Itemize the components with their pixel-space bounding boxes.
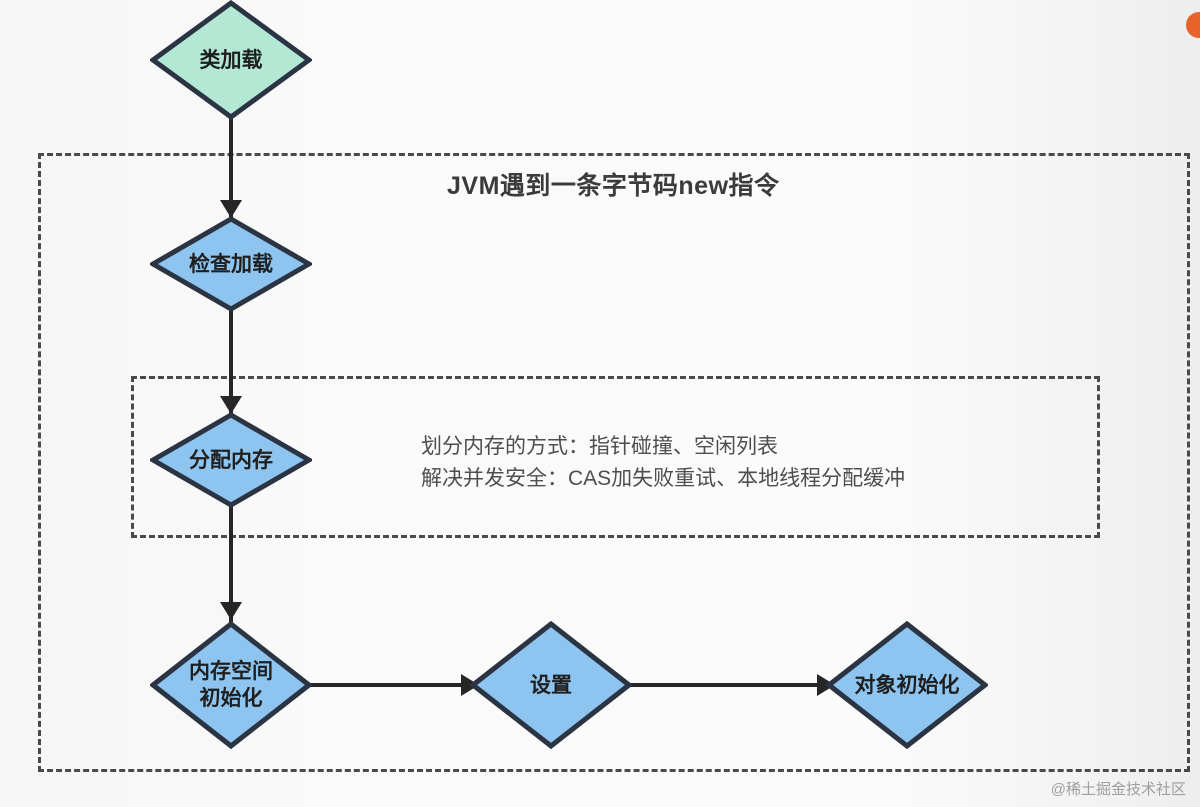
diamond-shape-icon bbox=[470, 621, 632, 749]
note-line-concurrency: 解决并发安全：CAS加失败重试、本地线程分配缓冲 bbox=[421, 463, 905, 495]
watermark: @稀土掘金技术社区 bbox=[1051, 778, 1186, 799]
allocate-memory-notes: 划分内存的方式：指针碰撞、空闲列表 解决并发安全：CAS加失败重试、本地线程分配… bbox=[421, 431, 905, 495]
diagram-canvas: JVM遇到一条字节码new指令 划分内存的方式：指针碰撞、空闲列表 解决并发安全… bbox=[0, 0, 1200, 807]
node-class-load[interactable]: 类加载 bbox=[150, 0, 312, 120]
group-title-jvm-new-instruction: JVM遇到一条字节码new指令 bbox=[447, 166, 780, 202]
edge-alloc-mem-to-mem-init-arrow bbox=[220, 602, 242, 620]
diamond-shape-icon bbox=[150, 216, 312, 312]
edge-mem-init-to-setting-line bbox=[310, 683, 482, 687]
node-check-load[interactable]: 检查加载 bbox=[150, 216, 312, 312]
note-line-partition: 划分内存的方式：指针碰撞、空闲列表 bbox=[421, 431, 905, 463]
edge-setting-to-obj-init-line bbox=[630, 683, 838, 687]
node-memory-space-init[interactable]: 内存空间 初始化 bbox=[150, 621, 312, 749]
node-allocate-memory[interactable]: 分配内存 bbox=[150, 412, 312, 508]
node-object-init[interactable]: 对象初始化 bbox=[826, 621, 988, 749]
diamond-shape-icon bbox=[150, 621, 312, 749]
diamond-shape-icon bbox=[150, 412, 312, 508]
diamond-shape-icon bbox=[826, 621, 988, 749]
node-setting[interactable]: 设置 bbox=[470, 621, 632, 749]
diamond-shape-icon bbox=[150, 0, 312, 120]
